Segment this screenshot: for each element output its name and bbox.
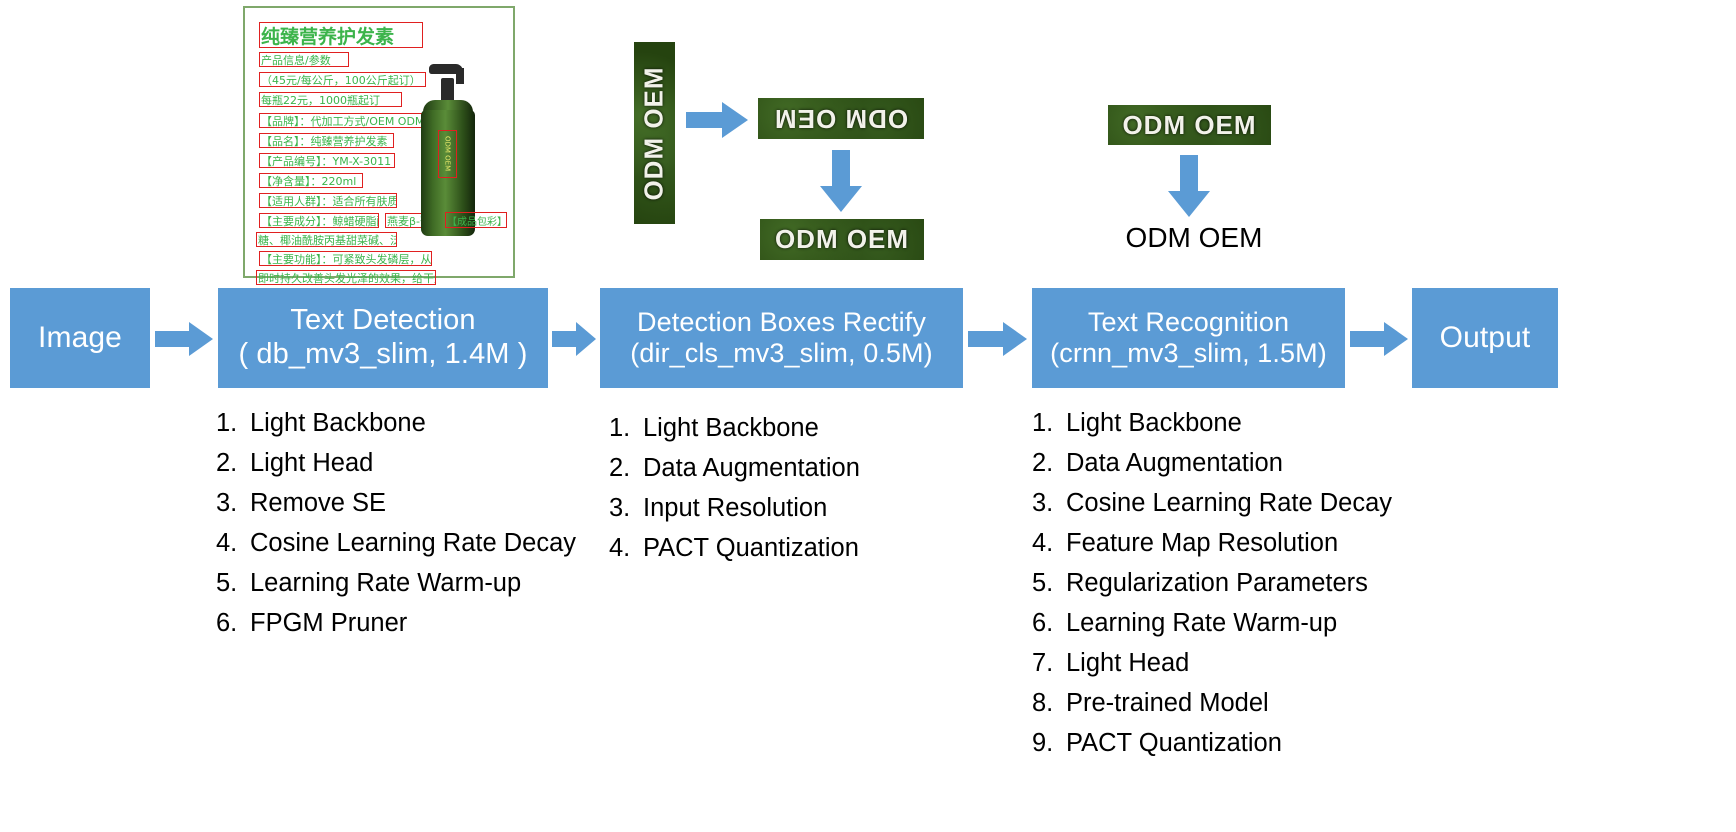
list-item-number: 6. [216, 603, 250, 643]
pipeline-box-rectify-line2: (dir_cls_mv3_slim, 0.5M) [630, 338, 932, 369]
list-item: 3.Cosine Learning Rate Decay [1032, 483, 1392, 523]
list-item-number: 2. [216, 443, 250, 483]
list-item-number: 2. [609, 448, 643, 488]
arrow-right-recognition-to-output [1350, 322, 1408, 356]
list-item: 2.Data Augmentation [1032, 443, 1392, 483]
crop-recognition-input-text: ODM OEM [1122, 110, 1256, 141]
list-item: 3.Input Resolution [609, 488, 860, 528]
list-item-label: Light Backbone [250, 403, 426, 443]
list-item: 1.Light Backbone [609, 408, 860, 448]
list-item-number: 5. [1032, 563, 1066, 603]
list-item: 5.Regularization Parameters [1032, 563, 1392, 603]
list-item: 6.FPGM Pruner [216, 603, 576, 643]
list-item-label: Light Head [1066, 643, 1189, 683]
crop-vertical-text: ODM OEM [639, 66, 670, 200]
list-item-label: Learning Rate Warm-up [250, 563, 521, 603]
list-item-label: PACT Quantization [643, 528, 859, 568]
ocr-detection-box: 即时持久改善头发光泽的效果，给干燥的头 [256, 270, 436, 285]
ocr-detection-box-title: 纯臻营养护发素 [259, 22, 423, 48]
list-item-number: 3. [609, 488, 643, 528]
pipeline-box-image[interactable]: Image [10, 288, 150, 388]
list-item: 4.PACT Quantization [609, 528, 860, 568]
list-item-number: 2. [1032, 443, 1066, 483]
list-item-number: 6. [1032, 603, 1066, 643]
feature-list-detection: 1.Light Backbone2.Light Head3.Remove SE4… [216, 403, 576, 643]
ocr-detection-box: 产品信息/参数 [259, 52, 349, 67]
crop-recognition-input-odm-oem: ODM OEM [1108, 105, 1271, 145]
list-item-number: 9. [1032, 723, 1066, 763]
list-item-label: Light Head [250, 443, 373, 483]
pipeline-box-text-recognition[interactable]: Text Recognition (crnn_mv3_slim, 1.5M) [1032, 288, 1345, 388]
feature-list-recognition: 1.Light Backbone2.Data Augmentation3.Cos… [1032, 403, 1392, 763]
pipeline-box-detection-line2: ( db_mv3_slim, 1.4M ) [239, 338, 528, 372]
ocr-detection-box: 【产品编号】：YM-X-3011 [259, 153, 395, 168]
list-item-number: 4. [609, 528, 643, 568]
list-item-label: Light Backbone [643, 408, 819, 448]
list-item-number: 3. [1032, 483, 1066, 523]
ocr-detection-box: 【品名】：纯臻营养护发素 [259, 133, 394, 148]
pipeline-box-recognition-line2: (crnn_mv3_slim, 1.5M) [1050, 338, 1327, 369]
list-item-number: 4. [216, 523, 250, 563]
crop-vertical-odm-oem: ODM OEM [634, 42, 675, 224]
list-item-label: Feature Map Resolution [1066, 523, 1338, 563]
pipeline-box-image-line1: Image [38, 321, 122, 356]
pipeline-box-output[interactable]: Output [1412, 288, 1558, 388]
arrow-down-recognition-output [1168, 155, 1210, 217]
arrow-right-rectify-input [686, 102, 748, 138]
list-item-label: Data Augmentation [1066, 443, 1283, 483]
list-item: 3.Remove SE [216, 483, 576, 523]
list-item-label: Data Augmentation [643, 448, 860, 488]
list-item-number: 1. [609, 408, 643, 448]
list-item-number: 4. [1032, 523, 1066, 563]
recognition-result-text: ODM OEM [1104, 222, 1284, 254]
ocr-detection-box: （45元/每公斤，100公斤起订） [259, 72, 426, 87]
list-item: 6.Learning Rate Warm-up [1032, 603, 1392, 643]
list-item: 4.Feature Map Resolution [1032, 523, 1392, 563]
ocr-detection-box: 【净含量】：220ml [259, 173, 363, 188]
list-item-number: 7. [1032, 643, 1066, 683]
bottle-pump-stem-icon [456, 68, 464, 84]
list-item: 7.Light Head [1032, 643, 1392, 683]
list-item-label: FPGM Pruner [250, 603, 407, 643]
list-item-number: 1. [1032, 403, 1066, 443]
ocr-detection-box: 每瓶22元，1000瓶起订 [259, 92, 402, 107]
crop-flipped-text: ODM OEM [774, 103, 908, 134]
list-item: 5.Learning Rate Warm-up [216, 563, 576, 603]
ocr-detection-box: 【主要功能】：可紧致头发磷层，从而达到 [259, 251, 432, 266]
list-item-label: Remove SE [250, 483, 386, 523]
list-item: 1.Light Backbone [1032, 403, 1392, 443]
list-item: 4.Cosine Learning Rate Decay [216, 523, 576, 563]
list-item: 2.Light Head [216, 443, 576, 483]
list-item-number: 8. [1032, 683, 1066, 723]
arrow-right-image-to-detection [155, 322, 213, 356]
list-item-number: 1. [216, 403, 250, 443]
list-item-label: Learning Rate Warm-up [1066, 603, 1337, 643]
ocr-detection-box: 糖、椰油酰胺丙基甜菜碱、泛醌 [256, 232, 397, 247]
feature-list-rectify: 1.Light Backbone2.Data Augmentation3.Inp… [609, 408, 860, 568]
pipeline-box-detection-line1: Text Detection [290, 304, 475, 338]
list-item-label: Pre-trained Model [1066, 683, 1269, 723]
list-item: 2.Data Augmentation [609, 448, 860, 488]
ocr-detection-box-product-tag: 【成品包彩】 [445, 212, 507, 228]
pipeline-box-output-line1: Output [1440, 321, 1531, 356]
crop-rectified-odm-oem: ODM OEM [760, 219, 924, 260]
arrow-right-rectify-to-recognition [968, 322, 1027, 356]
list-item-label: Regularization Parameters [1066, 563, 1368, 603]
ocr-detection-box: 【适用人群】：适合所有肤质 [259, 193, 397, 208]
ocr-detection-box: 【主要成分】：鲸蜡硬脂醇 [259, 213, 379, 228]
list-item-number: 5. [216, 563, 250, 603]
arrow-down-rectify-output [820, 150, 862, 212]
list-item-label: PACT Quantization [1066, 723, 1282, 763]
pipeline-box-text-detection[interactable]: Text Detection ( db_mv3_slim, 1.4M ) [218, 288, 548, 388]
product-bottle-image: ODM OEM [405, 48, 491, 238]
list-item-label: Cosine Learning Rate Decay [1066, 483, 1392, 523]
list-item: 8.Pre-trained Model [1032, 683, 1392, 723]
list-item-number: 3. [216, 483, 250, 523]
list-item: 9.PACT Quantization [1032, 723, 1392, 763]
ocr-sample-document: 纯臻营养护发素 产品信息/参数 （45元/每公斤，100公斤起订） 每瓶22元，… [243, 6, 515, 278]
arrow-right-detection-to-rectify [552, 322, 596, 356]
list-item-label: Light Backbone [1066, 403, 1242, 443]
bottle-label-detection-box: ODM OEM [438, 130, 457, 178]
list-item: 1.Light Backbone [216, 403, 576, 443]
pipeline-box-detection-boxes-rectify[interactable]: Detection Boxes Rectify (dir_cls_mv3_sli… [600, 288, 963, 388]
pipeline-box-recognition-line1: Text Recognition [1088, 307, 1289, 338]
list-item-label: Input Resolution [643, 488, 827, 528]
list-item-label: Cosine Learning Rate Decay [250, 523, 576, 563]
ocr-detection-box: 【品牌】：代加工方式/OEM ODM [259, 113, 422, 128]
crop-rectified-text: ODM OEM [775, 224, 909, 255]
crop-flipped-odm-oem: ODM OEM [758, 98, 924, 139]
pipeline-box-rectify-line1: Detection Boxes Rectify [637, 307, 926, 338]
